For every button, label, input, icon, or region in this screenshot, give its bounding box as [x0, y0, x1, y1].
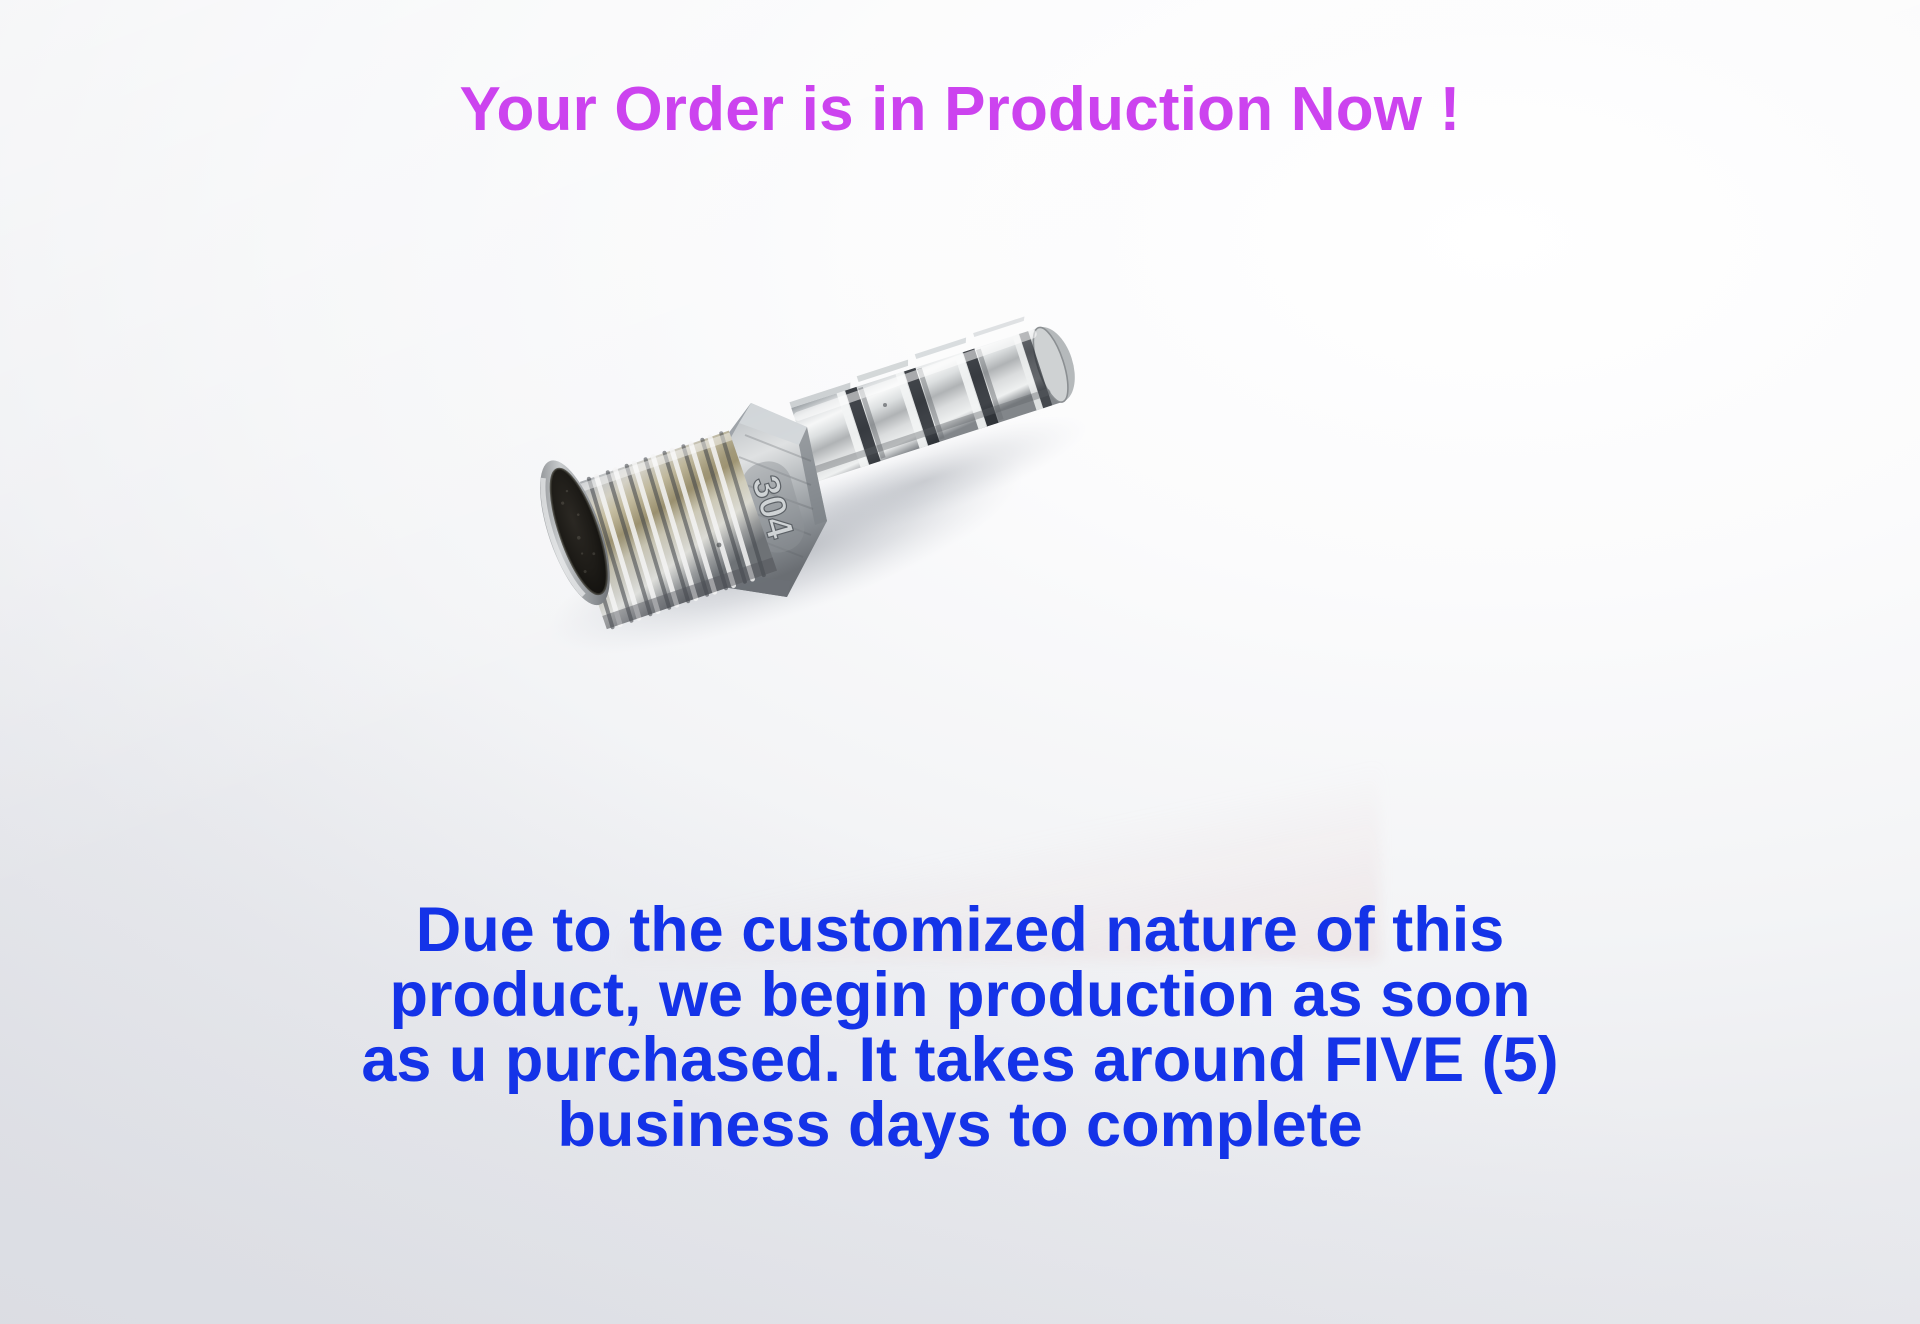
hose-barb-fitting-illustration: 304 [455, 285, 1175, 745]
notice-line-2: product, we begin production as soon [180, 963, 1740, 1028]
notice-line-1: Due to the customized nature of this [180, 898, 1740, 963]
promo-banner: 304 [0, 0, 1920, 1324]
product-photo-hose-barb-fitting: 304 [455, 285, 1175, 745]
production-notice: Due to the customized nature of this pro… [180, 898, 1740, 1158]
notice-line-3: as u purchased. It takes around FIVE (5) [180, 1028, 1740, 1093]
notice-line-4: business days to complete [180, 1093, 1740, 1158]
page-title-headline: Your Order is in Production Now ! [0, 74, 1920, 145]
